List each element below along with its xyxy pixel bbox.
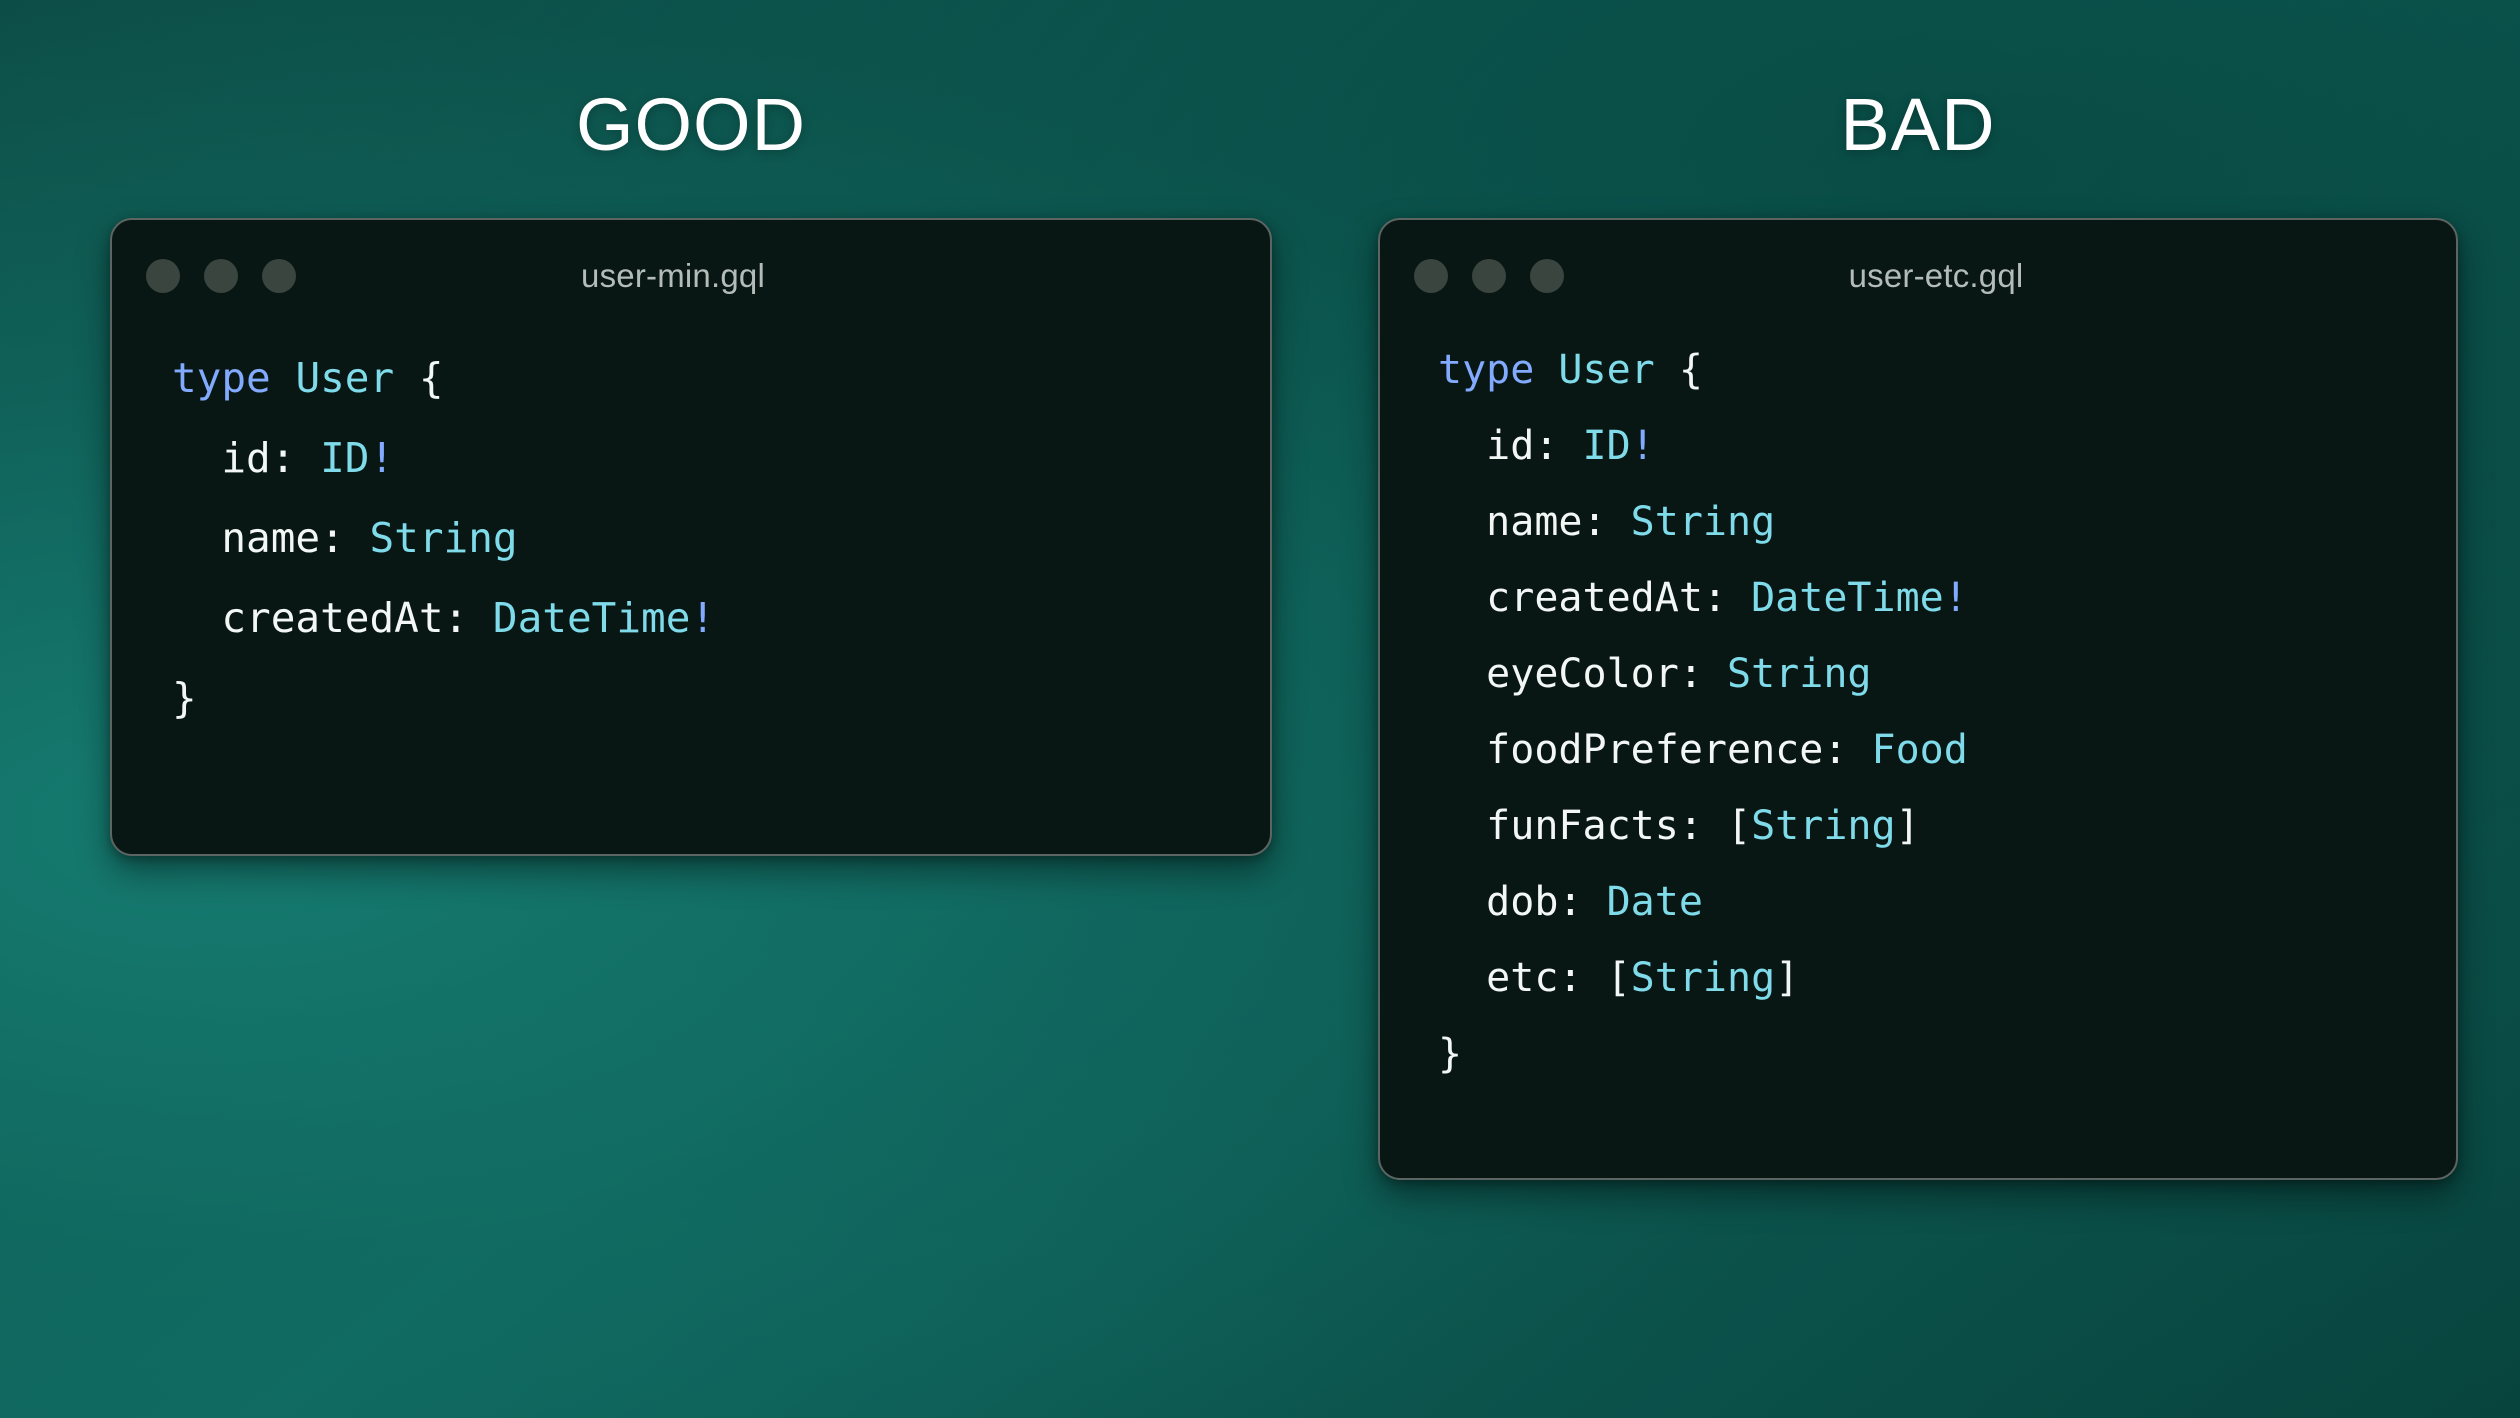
window-controls (1414, 259, 1564, 293)
heading-bad: BAD (1378, 88, 2458, 162)
heading-good: GOOD (110, 88, 1272, 162)
code-token: DateTime (493, 594, 690, 642)
code-token: createdAt: (172, 594, 493, 642)
code-token: ] (1775, 955, 1799, 1001)
code-token: Date (1607, 879, 1703, 925)
code-token: etc: [ (1438, 955, 1631, 1001)
code-window-good: user-min.gql type User { id: ID! name: S… (110, 218, 1272, 856)
code-window-bad: user-etc.gql type User { id: ID! name: S… (1378, 218, 2458, 1180)
code-token: User (1558, 347, 1654, 393)
code-token: { (1655, 347, 1703, 393)
code-token: } (172, 674, 197, 722)
window-controls (146, 259, 296, 293)
code-token: ID (1583, 423, 1631, 469)
code-line: type User { (1438, 332, 2456, 408)
code-token: Food (1871, 727, 1967, 773)
code-line: name: String (1438, 484, 2456, 560)
code-token: { (394, 354, 443, 402)
code-token: funFacts: [ (1438, 803, 1751, 849)
code-line: id: ID! (1438, 408, 2456, 484)
code-token: String (369, 514, 517, 562)
code-token: createdAt: (1438, 575, 1751, 621)
code-line: createdAt: DateTime! (172, 578, 1270, 658)
code-line: name: String (172, 498, 1270, 578)
code-block-good: type User { id: ID! name: String created… (112, 332, 1270, 738)
code-line: type User { (172, 338, 1270, 418)
code-token: id: (1438, 423, 1583, 469)
code-token: User (295, 354, 394, 402)
code-token: type (172, 354, 271, 402)
code-token: ! (369, 434, 394, 482)
code-token: ID (320, 434, 369, 482)
code-token: String (1727, 651, 1872, 697)
comparison-stage: GOOD BAD user-min.gql type User { id: ID… (0, 0, 2520, 1418)
code-token: String (1751, 803, 1896, 849)
code-token: ! (1631, 423, 1655, 469)
code-line: foodPreference: Food (1438, 712, 2456, 788)
close-dot-icon[interactable] (1414, 259, 1448, 293)
code-line: } (172, 658, 1270, 738)
maximize-dot-icon[interactable] (262, 259, 296, 293)
window-titlebar: user-etc.gql (1380, 220, 2456, 332)
code-block-bad: type User { id: ID! name: String created… (1380, 332, 2456, 1092)
code-line: id: ID! (172, 418, 1270, 498)
code-token: eyeColor: (1438, 651, 1727, 697)
code-token (271, 354, 296, 402)
code-token: } (1438, 1031, 1462, 1077)
code-token: foodPreference: (1438, 727, 1871, 773)
code-token (1534, 347, 1558, 393)
code-line: dob: Date (1438, 864, 2456, 940)
code-line: } (1438, 1016, 2456, 1092)
code-token: ! (1944, 575, 1968, 621)
minimize-dot-icon[interactable] (1472, 259, 1506, 293)
code-token: ] (1896, 803, 1920, 849)
code-line: eyeColor: String (1438, 636, 2456, 712)
code-token: ! (690, 594, 715, 642)
code-token: type (1438, 347, 1534, 393)
code-token: id: (172, 434, 320, 482)
minimize-dot-icon[interactable] (204, 259, 238, 293)
code-line: funFacts: [String] (1438, 788, 2456, 864)
code-token: String (1631, 955, 1776, 1001)
window-titlebar: user-min.gql (112, 220, 1270, 332)
code-token: DateTime (1751, 575, 1944, 621)
code-line: etc: [String] (1438, 940, 2456, 1016)
code-token: name: (1438, 499, 1631, 545)
maximize-dot-icon[interactable] (1530, 259, 1564, 293)
code-token: name: (172, 514, 369, 562)
close-dot-icon[interactable] (146, 259, 180, 293)
code-line: createdAt: DateTime! (1438, 560, 2456, 636)
code-token: dob: (1438, 879, 1607, 925)
code-token: String (1631, 499, 1776, 545)
